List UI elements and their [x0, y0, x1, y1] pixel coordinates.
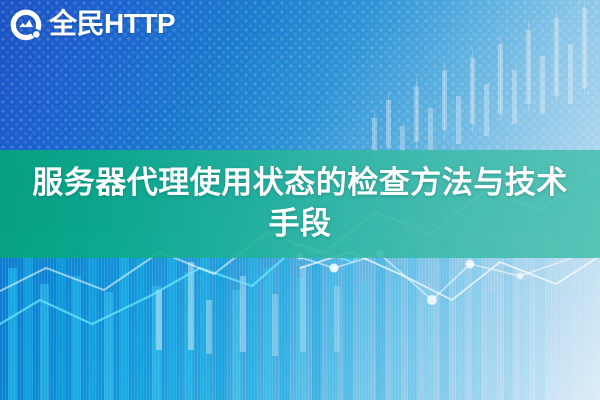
brand-logo[interactable]: 全民HTTP: [8, 6, 175, 42]
article-cover-banner: 全民HTTP 服务器代理使用状态的检查方法与技术手段: [0, 0, 600, 400]
title-band: 服务器代理使用状态的检查方法与技术手段: [0, 150, 600, 258]
quanmin-circle-logo-icon: [8, 6, 44, 42]
brand-name: 全民HTTP: [49, 10, 175, 38]
page-title: 服务器代理使用状态的检查方法与技术手段: [20, 163, 580, 245]
